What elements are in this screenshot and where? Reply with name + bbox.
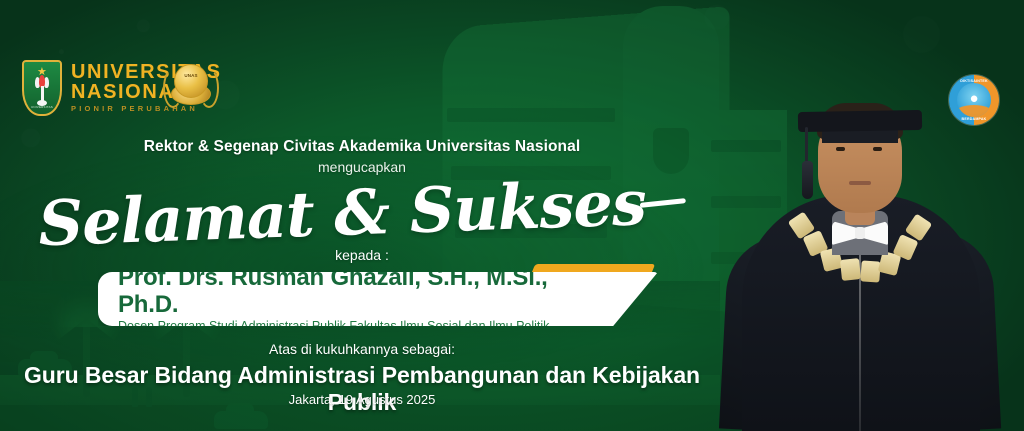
- headline-swash: [639, 198, 685, 208]
- congratulations-banner: ★ UNIVERSITAS NASIONAL UNIVERSITAS NASIO…: [0, 0, 1024, 431]
- mortarboard-cap: [798, 110, 922, 132]
- atas-label: Atas di kukuhkannya sebagai:: [0, 341, 724, 357]
- greeting-line: Rektor & Segenap Civitas Akademika Unive…: [0, 138, 724, 156]
- place-date: Jakarta, 19 Agustus 2025: [0, 392, 724, 407]
- banner-content: Rektor & Segenap Civitas Akademika Unive…: [0, 0, 724, 431]
- tassel: [802, 127, 812, 199]
- professor-portrait: [724, 39, 996, 431]
- honoree-name: Prof. Drs. Rusman Ghazali, S.H., M.Si., …: [118, 264, 604, 318]
- professorship-title: Guru Besar Bidang Administrasi Pembangun…: [0, 362, 724, 416]
- bird-icon: ●: [969, 91, 978, 106]
- kepada-label: kepada :: [0, 247, 724, 263]
- nameplate: Prof. Drs. Rusman Ghazali, S.H., M.Si., …: [98, 268, 658, 326]
- honoree-position: Dosen Program Studi Administrasi Publik …: [118, 318, 604, 334]
